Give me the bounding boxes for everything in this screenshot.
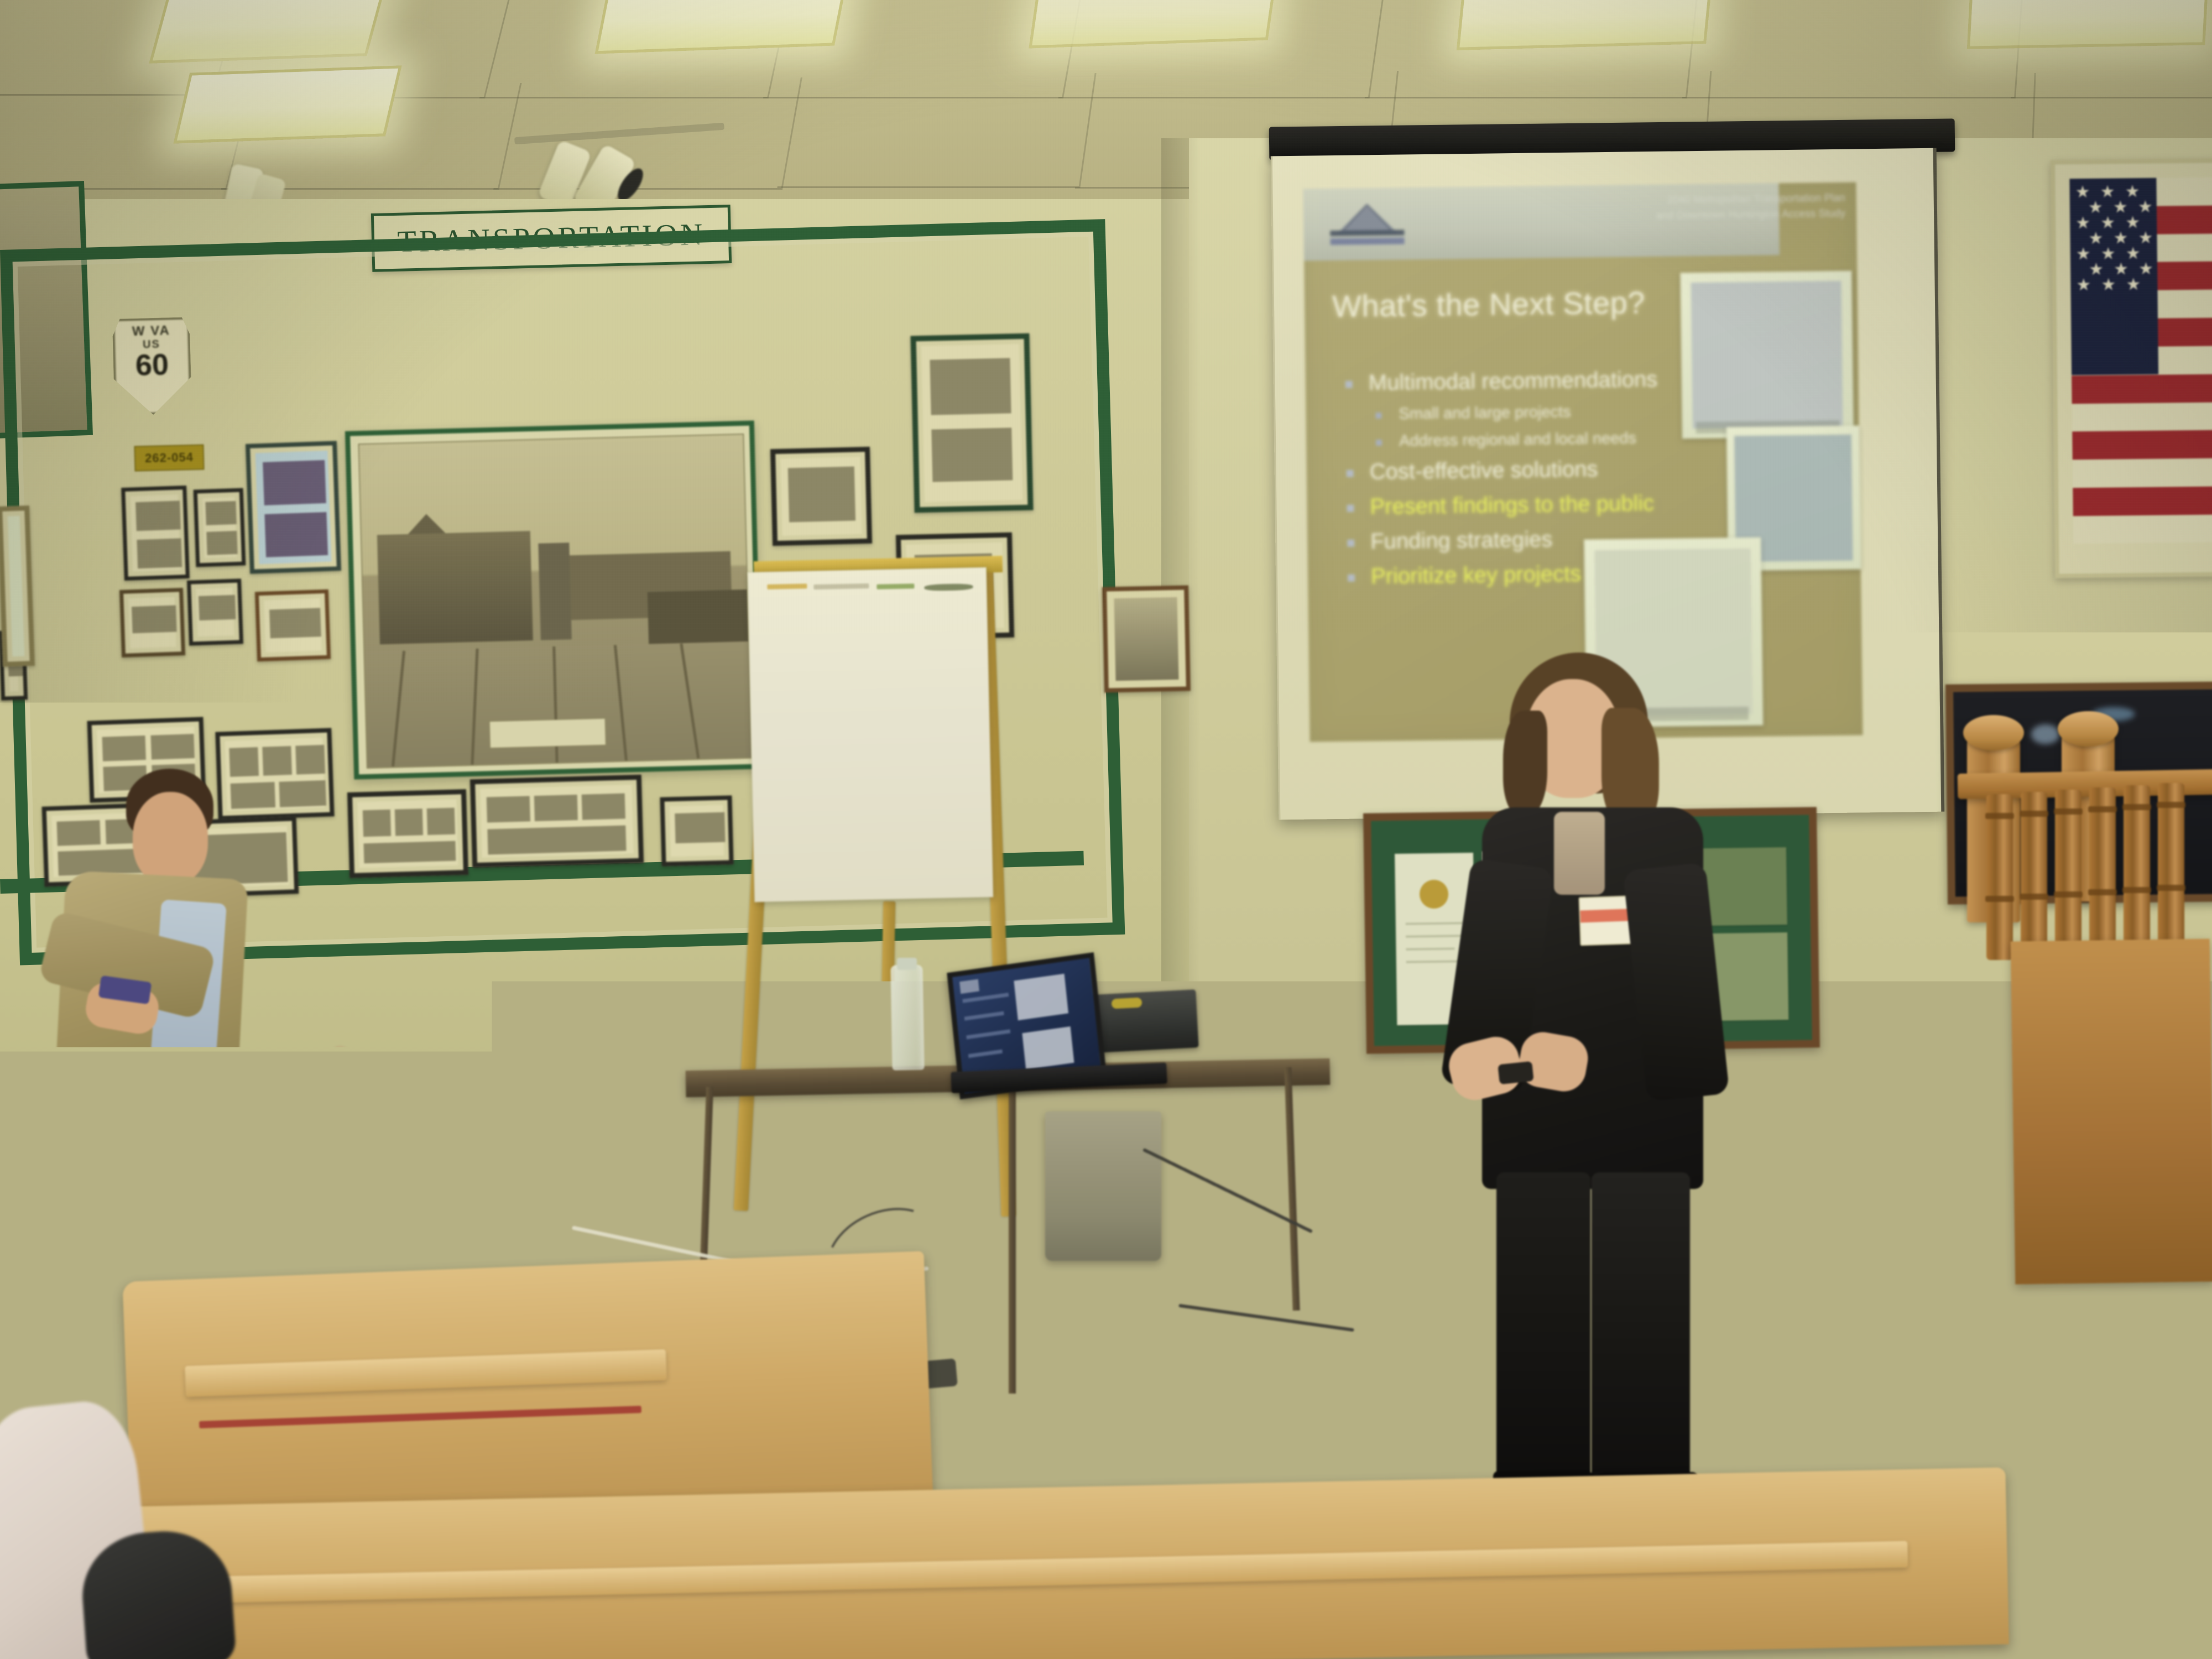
attendee-head	[133, 792, 208, 885]
slide-title: What's the Next Step?	[1332, 284, 1646, 324]
newel-finial	[1963, 715, 2024, 750]
flag-canton: ★ ★ ★ ★ ★ ★ ★ ★ ★ ★ ★ ★ ★ ★ ★ ★ ★ ★ ★ ★	[2069, 178, 2158, 375]
projector-lens	[1112, 998, 1142, 1009]
water-bottle[interactable]	[890, 965, 924, 1071]
bridge-logo-icon	[1320, 199, 1415, 255]
presenter-hair-side	[1503, 711, 1547, 816]
baluster	[2021, 792, 2047, 958]
framed-train-photo	[1102, 585, 1191, 692]
shield-route-number-label: 60	[135, 351, 169, 380]
presentation-room-photo: TRANSPORTATION W VA US 60 262-054	[0, 0, 2212, 1659]
gallery-frame	[255, 589, 331, 662]
slide-header-line-2: and Downtown Huntington Access Study	[1602, 206, 1845, 224]
shield-state-label: W VA	[132, 324, 170, 338]
railing-panel	[2011, 939, 2212, 1285]
presenter-leg-left	[1496, 1172, 1590, 1493]
us-flag: ★ ★ ★ ★ ★ ★ ★ ★ ★ ★ ★ ★ ★ ★ ★ ★ ★ ★ ★ ★	[2069, 177, 2212, 544]
recessed-fluorescent-panel	[1967, 0, 2208, 49]
recessed-fluorescent-panel	[149, 0, 387, 64]
baluster	[2089, 787, 2116, 953]
slide-image-display-board	[1680, 271, 1854, 439]
slide-header: 2040 Metropolitan Transportation Plan an…	[1602, 191, 1846, 224]
wall-outlet	[382, 1065, 405, 1101]
presenter-leg-right	[1592, 1172, 1690, 1493]
gallery-frame	[187, 578, 243, 645]
recessed-fluorescent-panel	[595, 0, 849, 54]
gallery-frame	[246, 441, 341, 574]
recessed-fluorescent-panel	[173, 65, 401, 143]
depot-image	[358, 434, 752, 769]
gallery-frame	[121, 486, 190, 581]
trash-can	[1045, 1112, 1161, 1261]
slide-subbullet: Address regional and local needs	[1339, 429, 1682, 451]
recessed-fluorescent-panel	[1457, 0, 1712, 50]
gallery-frame	[770, 447, 872, 546]
presenter-remote-clicker[interactable]	[1498, 1061, 1533, 1084]
gallery-frame	[910, 333, 1033, 513]
depot-photo-caption-plate	[489, 718, 606, 748]
us-flag-display: ★ ★ ★ ★ ★ ★ ★ ★ ★ ★ ★ ★ ★ ★ ★ ★ ★ ★ ★ ★	[2051, 158, 2212, 578]
baluster	[2124, 785, 2150, 951]
gallery-frame	[0, 505, 35, 667]
blank-flipchart-pad	[748, 567, 993, 902]
route-plate: 262-054	[134, 444, 204, 471]
attendee-shoe	[467, 1199, 564, 1258]
slide-bullet: Multimodal recommendations	[1338, 367, 1682, 396]
historic-railroad-depot-photograph	[345, 420, 763, 779]
slide-subbullet: Small and large projects	[1339, 401, 1682, 424]
gallery-frame	[119, 588, 185, 658]
slide-bullet: Cost-effective solutions	[1339, 456, 1683, 485]
water-bottle-cap[interactable]	[897, 958, 917, 970]
gallery-frame	[194, 488, 246, 567]
baluster	[1986, 794, 2013, 960]
table-leg	[1009, 1084, 1016, 1394]
presenter-blouse	[1554, 812, 1605, 895]
baluster	[2158, 783, 2184, 949]
newel-finial	[2058, 711, 2119, 747]
gallery-frame	[660, 795, 733, 866]
slide-bullet-highlighted: Present findings to the public	[1340, 491, 1683, 520]
baluster	[2055, 790, 2081, 956]
presenter	[1416, 653, 1759, 1482]
